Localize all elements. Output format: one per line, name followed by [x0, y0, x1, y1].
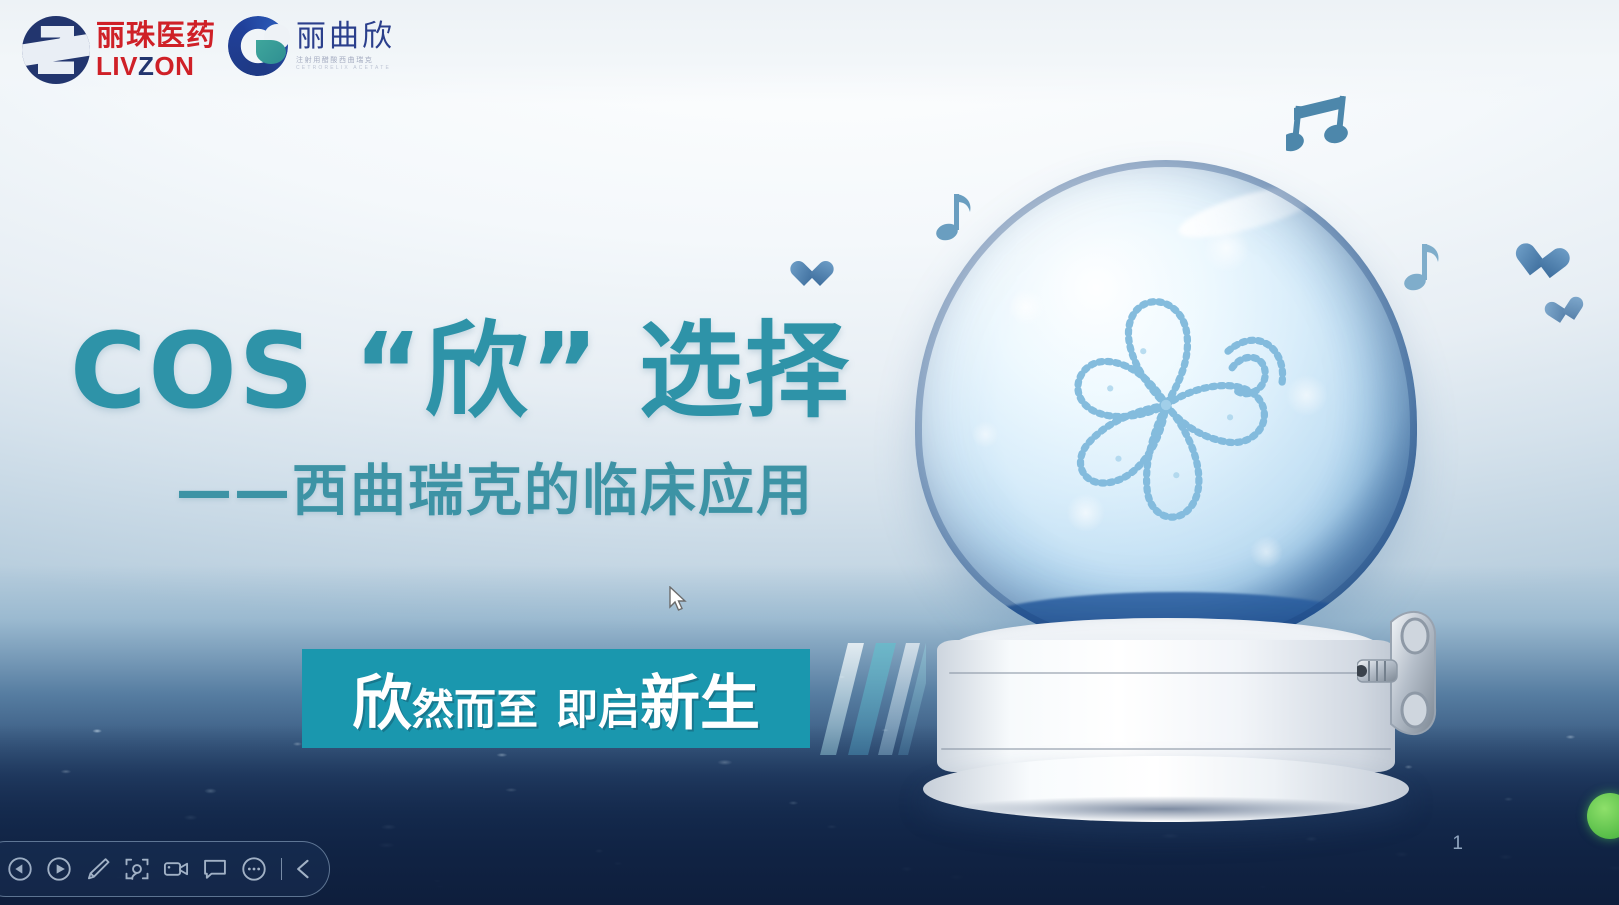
slide-subtitle: ——西曲瑞克的临床应用: [176, 446, 814, 527]
snow-globe-graphic: [905, 160, 1425, 780]
liquxin-logo-sub-en: CETRORELIX ACETATE: [296, 66, 395, 71]
globe-base-shadow: [945, 796, 1385, 822]
slogan-part2-rest: 即启: [556, 685, 640, 734]
mouse-cursor: [668, 586, 690, 612]
windup-key-icon: [1357, 592, 1443, 752]
laser-pointer-icon[interactable]: [122, 852, 151, 886]
slogan-text: 欣然而至即启新生: [352, 655, 760, 742]
play-circle-icon[interactable]: [44, 852, 73, 886]
globe-base-groove-top: [949, 672, 1383, 674]
globe-dome: [915, 160, 1417, 650]
video-camera-icon[interactable]: [162, 852, 191, 886]
music-note-single-icon: [930, 190, 974, 251]
livzon-logo-en: LIVZON: [96, 53, 216, 79]
page-number: 1: [1452, 833, 1463, 855]
heart-icon: [790, 262, 820, 289]
liquxin-logo-cn: 丽曲欣: [296, 22, 395, 52]
globe-base-body: [937, 640, 1395, 772]
collapse-left-icon[interactable]: [290, 852, 319, 886]
sparkle-embryo-art-icon: [1011, 252, 1321, 562]
slogan-part1-rest: 然而至: [412, 685, 538, 734]
record-stop-icon[interactable]: [5, 852, 34, 886]
music-note-single-icon: [1398, 240, 1442, 301]
slogan-banner: 欣然而至即启新生: [302, 649, 810, 748]
music-note-beamed-icon: [1286, 84, 1360, 161]
liquxin-mark-icon: [228, 16, 288, 76]
liquxin-logo-sub-cn: 注射用醋酸西曲瑞克: [296, 57, 395, 64]
slogan-part2-big: 新生: [640, 669, 760, 739]
livzon-mark-icon: [22, 16, 90, 84]
chat-bubble-icon[interactable]: [201, 852, 230, 886]
slide-title: COS “欣” 选择: [70, 286, 851, 437]
livzon-logo-cn: 丽珠医药: [96, 21, 216, 50]
more-dots-icon[interactable]: [240, 852, 269, 886]
presentation-slide: 丽珠医药 LIVZON 丽曲欣 注射用醋酸西曲瑞克 CETRORELIX ACE…: [0, 0, 1619, 905]
slogan-part1-big: 欣: [352, 669, 412, 739]
meeting-toolbar[interactable]: [0, 841, 330, 897]
heart-icon: [1512, 243, 1554, 282]
livzon-logo: 丽珠医药 LIVZON: [22, 16, 216, 84]
pencil-icon[interactable]: [83, 852, 112, 886]
globe-base-groove-bottom: [941, 748, 1391, 750]
liquxin-logo: 丽曲欣 注射用醋酸西曲瑞克 CETRORELIX ACETATE: [228, 16, 395, 76]
toolbar-divider: [281, 858, 282, 880]
